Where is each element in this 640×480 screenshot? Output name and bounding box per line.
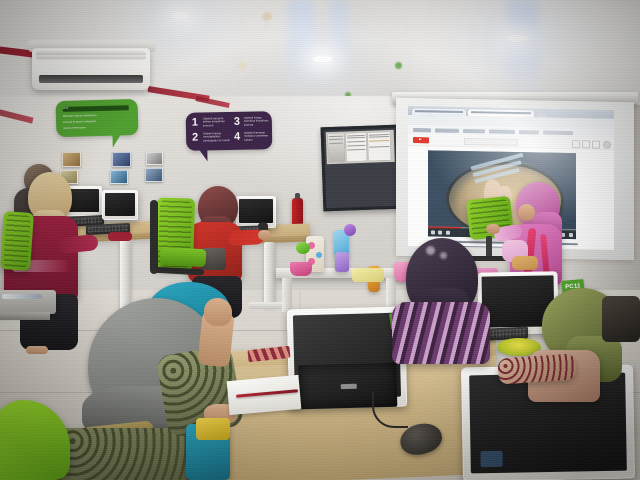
red-item-on-desk (108, 232, 132, 241)
bookmark-6[interactable] (543, 130, 573, 135)
fire-extinguisher-icon (292, 198, 303, 226)
sign-number-2: 2 (192, 133, 198, 144)
apps-icon[interactable] (582, 140, 590, 148)
jar-flower-2 (316, 252, 322, 258)
site-header (408, 134, 614, 150)
upload-icon[interactable] (572, 140, 580, 148)
classroom-photo: MISI Memberi latihan kemahiran kepada ko… (0, 0, 640, 480)
metal-tray-shelf (0, 312, 50, 320)
ceiling-light-icon-1 (170, 12, 190, 19)
ceiling-dot-cream-1 (262, 12, 272, 21)
notice-board-papers (326, 130, 395, 164)
ac-grille-icon (36, 51, 146, 60)
mouse-back-middle[interactable] (258, 222, 268, 230)
notice-paper-3 (368, 132, 391, 161)
sign-number-4: 4 (234, 132, 240, 143)
packaged-snacks[interactable] (352, 268, 384, 282)
pink-basket[interactable] (290, 262, 312, 276)
sign-line-2: kepada komuniti setempat (63, 119, 127, 124)
youtube-logo-icon[interactable] (413, 137, 429, 143)
monitor-sticker (480, 451, 502, 467)
bookmark-2[interactable] (435, 128, 459, 132)
light-beam-1 (288, 0, 314, 96)
sign-item-text-3: Objektif ketiga membina keyakinan pesert… (244, 116, 269, 127)
bookmark-4[interactable] (489, 129, 515, 133)
wall-photo-card-6 (145, 168, 163, 182)
sign-item-text-4: Objektif keempat menjana usahawan baharu (244, 131, 269, 142)
bubble-tail-icon-2 (198, 148, 207, 161)
participant-bag-yellow[interactable] (196, 418, 230, 440)
purple-container[interactable] (335, 252, 349, 272)
sign-heading: MISI (63, 105, 129, 112)
purple-decoration (344, 224, 356, 236)
torso (392, 302, 490, 364)
bookmark-5[interactable] (519, 130, 539, 134)
fullscreen-icon[interactable] (569, 233, 573, 237)
volume-icon[interactable] (446, 230, 450, 234)
sign-number-3: 3 (234, 117, 240, 128)
arm (57, 234, 98, 254)
bubble-tail-icon (112, 133, 121, 147)
ceiling-light-icon-2 (313, 56, 332, 62)
notice-board (321, 125, 402, 212)
monitor-brand-plate (341, 384, 357, 389)
monitor-back-left-2[interactable] (102, 190, 138, 220)
wall-photo-card-2 (112, 152, 131, 167)
sign-item-text-1: Objektif pertama latihan kemahiran komun… (203, 117, 230, 128)
ceiling-light-icon-3 (506, 35, 528, 42)
bell-icon[interactable] (592, 140, 600, 148)
sign-number-1: 1 (192, 118, 198, 129)
participant-right-olive-arm (497, 353, 577, 384)
notice-paper-2 (346, 133, 367, 162)
participant-foreground (52, 276, 274, 480)
raised-hand-icon (204, 298, 232, 326)
notice-paper-1 (328, 134, 345, 163)
handbag[interactable] (602, 296, 640, 342)
presenter-sash (512, 256, 538, 270)
ceiling-dot-cream-2 (238, 62, 246, 70)
wall-photo-card-1 (62, 152, 81, 167)
chair-seat-middle[interactable] (160, 247, 207, 267)
bookmark-3[interactable] (463, 129, 485, 133)
participant-center-dark (392, 238, 504, 364)
light-beam-2 (330, 0, 348, 80)
green-decoration (296, 242, 310, 254)
wall-photo-card-5 (146, 152, 163, 165)
chair-frame-middle (150, 200, 158, 274)
sign-line-1: Memberi latihan kemahiran (63, 113, 129, 118)
sign-line-3: secara berterusan (63, 126, 113, 131)
wall-photo-card-4 (110, 170, 128, 184)
next-icon[interactable] (438, 230, 442, 234)
chair-left[interactable] (0, 211, 34, 271)
ceiling-dot-green-1 (395, 62, 402, 69)
metal-tray-highlight (2, 294, 42, 299)
hijab-sparkle-1 (426, 246, 435, 255)
avatar[interactable] (603, 141, 611, 149)
pointing-hand-icon (486, 224, 500, 234)
air-conditioner (32, 48, 150, 90)
bookmark-1[interactable] (413, 128, 431, 132)
face (518, 204, 535, 221)
search-input[interactable] (464, 138, 518, 146)
foot (26, 346, 48, 354)
ac-vent-icon (39, 75, 143, 83)
play-icon[interactable] (431, 230, 435, 234)
green-speech-bubble-sign: MISI Memberi latihan kemahiran kepada ko… (56, 99, 139, 137)
hand-icon (258, 230, 271, 240)
hijab-sparkle-2 (440, 252, 447, 259)
purple-speech-bubble-sign: 1 Objektif pertama latihan kemahiran kom… (186, 111, 273, 150)
sign-item-text-2: Objektif kedua meningkatkan pendapatan i… (203, 132, 230, 143)
product-table-leg (282, 278, 292, 312)
